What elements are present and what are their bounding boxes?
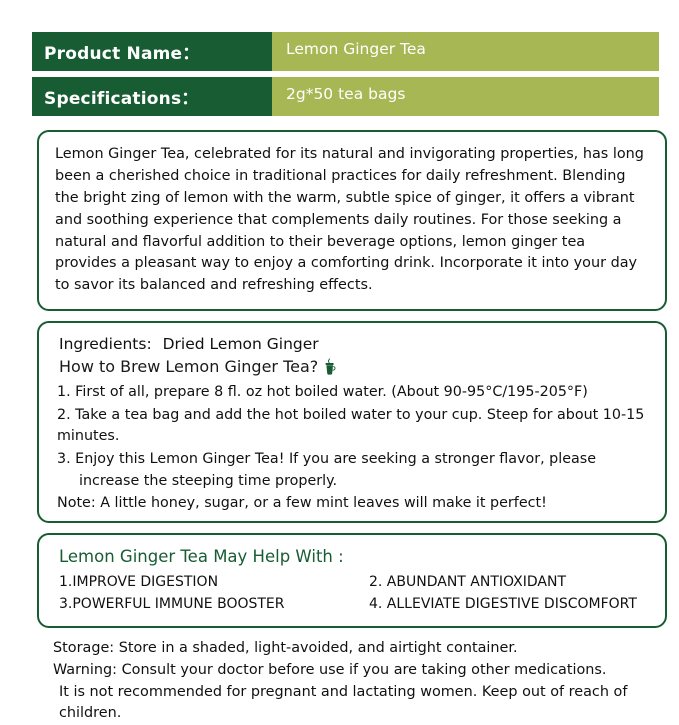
product-name-label: Product Name： (32, 32, 272, 71)
benefit-item-1: 1.IMPROVE DIGESTION (59, 572, 355, 594)
brew-step-2: 2. Take a tea bag and add the hot boiled… (57, 405, 651, 448)
brew-step-1: 1. First of all, prepare 8 fl. oz hot bo… (57, 382, 651, 403)
brew-step-3: 3. Enjoy this Lemon Ginger Tea! If you a… (57, 449, 651, 470)
tea-cup-icon (324, 358, 336, 376)
benefit-item-3: 3.POWERFUL IMMUNE BOOSTER (59, 594, 355, 616)
product-label-page: Product Name： Lemon Ginger Tea Specifica… (0, 0, 679, 679)
description-box: Lemon Ginger Tea, celebrated for its nat… (37, 130, 667, 311)
header-row-product-name: Product Name： Lemon Ginger Tea (32, 32, 659, 71)
storage-line: Storage: Store in a shaded, light-avoide… (53, 638, 679, 660)
warning-continuation-line: It is not recommended for pregnant and l… (59, 682, 679, 725)
brew-title: How to Brew Lemon Ginger Tea? (59, 357, 318, 376)
specifications-value: 2g*50 tea bags (272, 77, 659, 116)
brewing-box: Ingredients: Dried Lemon Ginger How to B… (37, 321, 667, 523)
ingredients-line: Ingredients: Dried Lemon Ginger (59, 335, 651, 353)
header-row-specifications: Specifications： 2g*50 tea bags (32, 77, 659, 116)
benefits-grid: 1.IMPROVE DIGESTION 2. ABUNDANT ANTIOXID… (59, 572, 651, 615)
benefits-title: Lemon Ginger Tea May Help With : (59, 547, 651, 566)
product-name-value: Lemon Ginger Tea (272, 32, 659, 71)
specifications-label: Specifications： (32, 77, 272, 116)
ingredients-value: Dried Lemon Ginger (163, 335, 319, 353)
footer-notes: Storage: Store in a shaded, light-avoide… (53, 638, 679, 725)
benefit-item-2: 2. ABUNDANT ANTIOXIDANT (355, 572, 651, 594)
description-text: Lemon Ginger Tea, celebrated for its nat… (55, 144, 649, 297)
warning-line: Warning: Consult your doctor before use … (53, 660, 679, 682)
brew-note: Note: A little honey, sugar, or a few mi… (57, 495, 651, 511)
benefit-item-4: 4. ALLEVIATE DIGESTIVE DISCOMFORT (355, 594, 651, 616)
brew-step-3-continuation: increase the steeping time properly. (79, 471, 651, 492)
ingredients-label: Ingredients: (59, 335, 152, 353)
benefits-box: Lemon Ginger Tea May Help With : 1.IMPRO… (37, 533, 667, 627)
header-table: Product Name： Lemon Ginger Tea Specifica… (32, 32, 659, 116)
brew-title-row: How to Brew Lemon Ginger Tea? (59, 357, 651, 376)
